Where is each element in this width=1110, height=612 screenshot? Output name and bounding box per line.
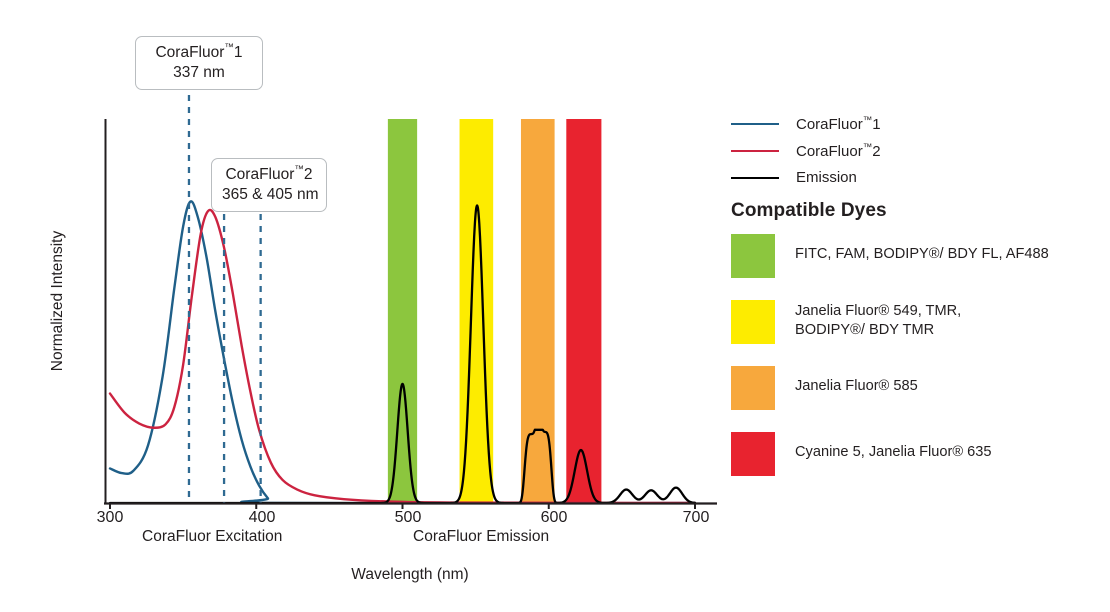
- dye-label-green: FITC, FAM, BODIPY®/ BDY FL, AF488: [795, 234, 1049, 264]
- y-axis-title: Normalized Intensity: [49, 201, 67, 401]
- dye-color-swatch-green: [731, 234, 775, 278]
- legend-label-emission: Emission: [796, 169, 857, 186]
- x-tick-label-500: 500: [378, 509, 438, 527]
- dye-bands-group: [388, 119, 602, 503]
- dye-row-green: FITC, FAM, BODIPY®/ BDY FL, AF488: [731, 234, 1106, 278]
- callout-2-title: CoraFluor™2: [222, 164, 316, 185]
- compatible-dyes-list: FITC, FAM, BODIPY®/ BDY FL, AF488 Janeli…: [731, 234, 1106, 498]
- legend-label-corafluor-2: CoraFluor™2: [796, 142, 881, 160]
- x-tick-label-600: 600: [524, 509, 584, 527]
- dye-band-3: [566, 119, 601, 503]
- dye-row-orange: Janelia Fluor® 585: [731, 366, 1106, 410]
- legend-line-swatch-corafluor-2: [731, 150, 779, 152]
- compatible-dyes-heading: Compatible Dyes: [731, 200, 887, 222]
- callout-corafluor-1: CoraFluor™1 337 nm: [135, 36, 263, 90]
- legend-line-swatch-emission: [731, 177, 779, 179]
- series-legend: CoraFluor™1 CoraFluor™2 Emission: [731, 110, 1103, 191]
- callout-2-value: 365 & 405 nm: [222, 185, 316, 205]
- x-tick-label-700: 700: [666, 509, 726, 527]
- dye-label-red: Cyanine 5, Janelia Fluor® 635: [795, 432, 992, 462]
- dye-color-swatch-red: [731, 432, 775, 476]
- legend-item-corafluor-1: CoraFluor™1: [731, 110, 1103, 137]
- x-tick-label-300: 300: [80, 509, 140, 527]
- region-label-excitation: CoraFluor Excitation: [142, 528, 282, 546]
- dye-row-red: Cyanine 5, Janelia Fluor® 635: [731, 432, 1106, 476]
- dye-color-swatch-yellow: [731, 300, 775, 344]
- dye-label-yellow: Janelia Fluor® 549, TMR,BODIPY®/ BDY TMR: [795, 300, 961, 341]
- excitation-marker-lines: [189, 95, 261, 503]
- region-label-emission: CoraFluor Emission: [413, 528, 549, 546]
- x-axis-title: Wavelength (nm): [0, 566, 820, 584]
- callout-1-title: CoraFluor™1: [146, 42, 252, 63]
- dye-row-yellow: Janelia Fluor® 549, TMR,BODIPY®/ BDY TMR: [731, 300, 1106, 344]
- legend-label-corafluor-1: CoraFluor™1: [796, 115, 881, 133]
- dye-color-swatch-orange: [731, 366, 775, 410]
- callout-corafluor-2: CoraFluor™2 365 & 405 nm: [211, 158, 327, 212]
- x-tick-label-400: 400: [232, 509, 292, 527]
- legend-item-emission: Emission: [731, 164, 1103, 191]
- legend-item-corafluor-2: CoraFluor™2: [731, 137, 1103, 164]
- dye-band-0: [388, 119, 417, 503]
- dye-label-orange: Janelia Fluor® 585: [795, 366, 918, 396]
- legend-line-swatch-corafluor-1: [731, 123, 779, 125]
- figure-canvas: CoraFluor™1 337 nm CoraFluor™2 365 & 405…: [0, 0, 1110, 612]
- callout-1-value: 337 nm: [146, 63, 252, 83]
